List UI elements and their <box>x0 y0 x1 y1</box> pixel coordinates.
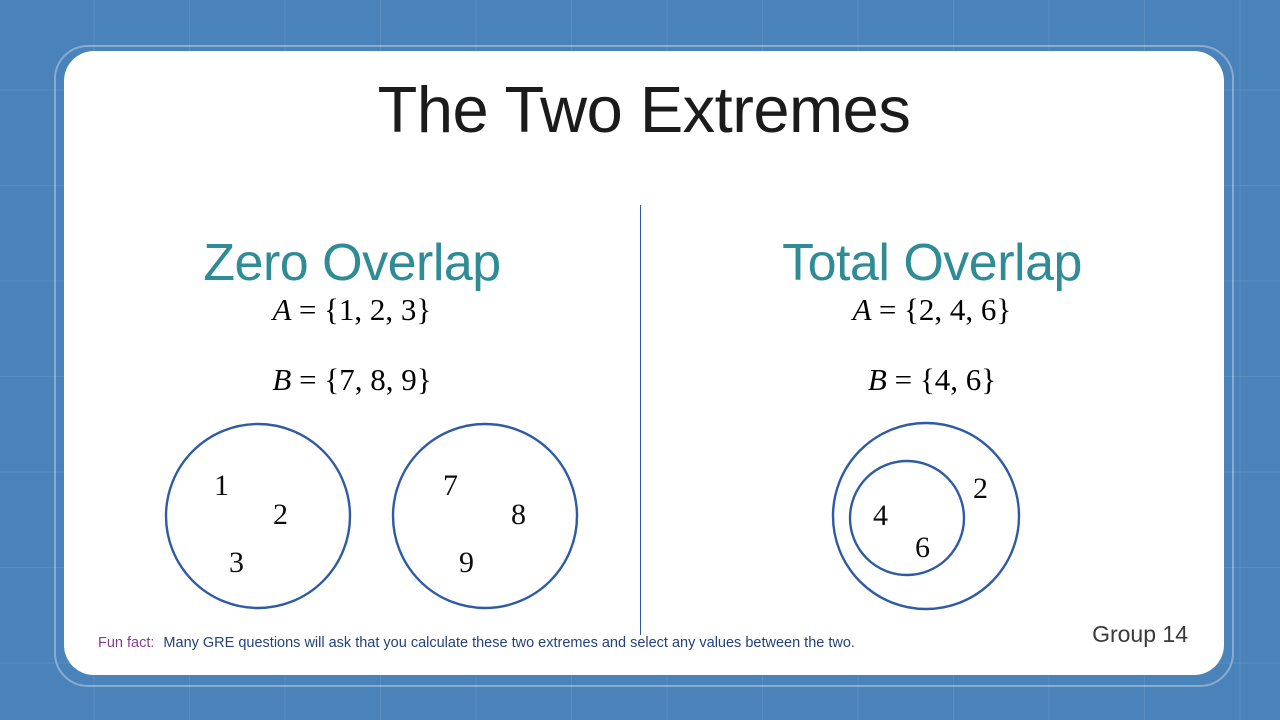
venn-number-2: 2 <box>273 500 288 530</box>
venn-number-3: 3 <box>229 548 244 578</box>
left-set-b-value: {7, 8, 9} <box>324 362 431 397</box>
left-set-a-definition: A = {1, 2, 3} <box>64 292 640 328</box>
right-set-a-value: {2, 4, 6} <box>904 292 1011 327</box>
footnote-body: Many GRE questions will ask that you cal… <box>163 635 855 651</box>
circle-b-inner-total-overlap <box>850 461 964 575</box>
venn-number-1: 1 <box>214 471 229 501</box>
circle-b-zero-overlap <box>393 424 577 608</box>
left-set-b-equals: = <box>299 362 316 397</box>
right-set-b-definition: B = {4, 6} <box>640 362 1224 398</box>
venn-number-7: 7 <box>443 471 458 501</box>
group-tag: Group 14 <box>1092 621 1188 648</box>
circle-a-zero-overlap <box>166 424 350 608</box>
venn-number-6: 6 <box>915 533 930 563</box>
venn-number-4: 4 <box>873 501 888 531</box>
slide-card: The Two Extremes Zero Overlap Total Over… <box>64 51 1224 675</box>
right-set-a-equals: = <box>879 292 896 327</box>
right-set-b-value: {4, 6} <box>920 362 996 397</box>
footnote: Fun fact:Many GRE questions will ask tha… <box>98 635 855 652</box>
page-title: The Two Extremes <box>64 77 1224 142</box>
heading-total-overlap: Total Overlap <box>640 237 1224 289</box>
left-set-a-value: {1, 2, 3} <box>324 292 431 327</box>
footnote-label: Fun fact: <box>98 635 154 651</box>
venn-number-2: 2 <box>973 474 988 504</box>
left-set-a-equals: = <box>299 292 316 327</box>
right-set-b-equals: = <box>895 362 912 397</box>
slide-canvas: The Two Extremes Zero Overlap Total Over… <box>0 0 1280 720</box>
left-set-b-name: B <box>272 362 291 397</box>
right-set-a-name: A <box>853 292 871 327</box>
circle-a-outer-total-overlap <box>833 423 1019 609</box>
venn-number-8: 8 <box>511 500 526 530</box>
left-set-a-name: A <box>273 292 291 327</box>
left-set-b-definition: B = {7, 8, 9} <box>64 362 640 398</box>
heading-zero-overlap: Zero Overlap <box>64 237 640 289</box>
right-set-b-name: B <box>868 362 887 397</box>
venn-number-9: 9 <box>459 548 474 578</box>
right-set-a-definition: A = {2, 4, 6} <box>640 292 1224 328</box>
column-divider <box>640 205 641 635</box>
